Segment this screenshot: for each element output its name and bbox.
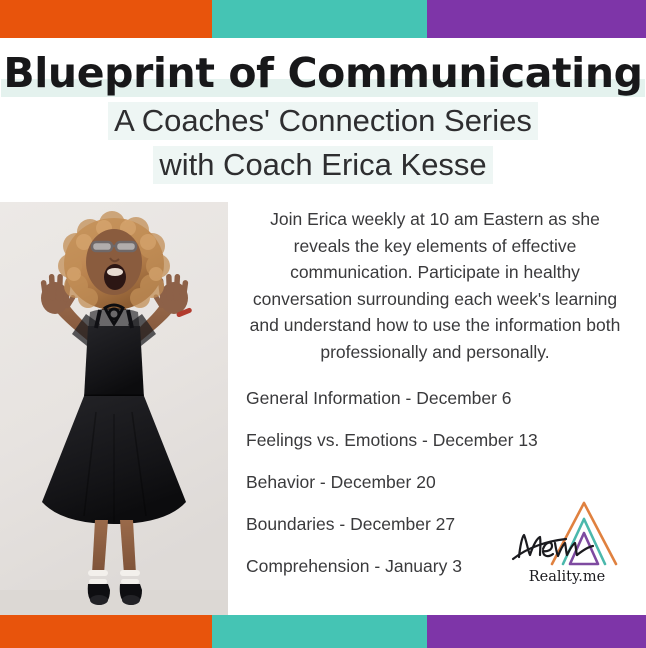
subtitle-line-2: with Coach Erica Kesse xyxy=(0,145,646,185)
schedule-item: Behavior - December 20 xyxy=(246,471,630,493)
logo-triangles-icon: Reality.me xyxy=(508,497,626,589)
bottom-color-bar xyxy=(0,615,646,648)
title-block: Blueprint of Communicating A Coaches' Co… xyxy=(0,38,646,185)
coach-photo xyxy=(0,202,228,615)
schedule-item: General Information - December 6 xyxy=(246,387,630,409)
logo-wordmark-text: Reality.me xyxy=(529,569,605,585)
subtitle-line-1: A Coaches' Connection Series xyxy=(0,101,646,141)
new-reality-logo: Reality.me xyxy=(508,497,626,589)
color-segment-purple xyxy=(427,615,646,648)
page-title-text: Blueprint of Communicating xyxy=(1,49,644,97)
flyer-canvas: Blueprint of Communicating A Coaches' Co… xyxy=(0,0,646,648)
page-title: Blueprint of Communicating xyxy=(0,49,646,97)
subtitle-line-1-text: A Coaches' Connection Series xyxy=(108,102,538,140)
color-segment-orange xyxy=(0,615,212,648)
coach-photo-illustration xyxy=(0,202,228,615)
color-segment-teal xyxy=(212,0,427,38)
subtitle-line-2-text: with Coach Erica Kesse xyxy=(153,146,492,184)
color-segment-teal xyxy=(212,615,427,648)
color-segment-orange xyxy=(0,0,212,38)
color-segment-purple xyxy=(427,0,646,38)
description-paragraph: Join Erica weekly at 10 am Eastern as sh… xyxy=(240,206,630,365)
top-color-bar xyxy=(0,0,646,38)
schedule-item: Feelings vs. Emotions - December 13 xyxy=(246,429,630,451)
